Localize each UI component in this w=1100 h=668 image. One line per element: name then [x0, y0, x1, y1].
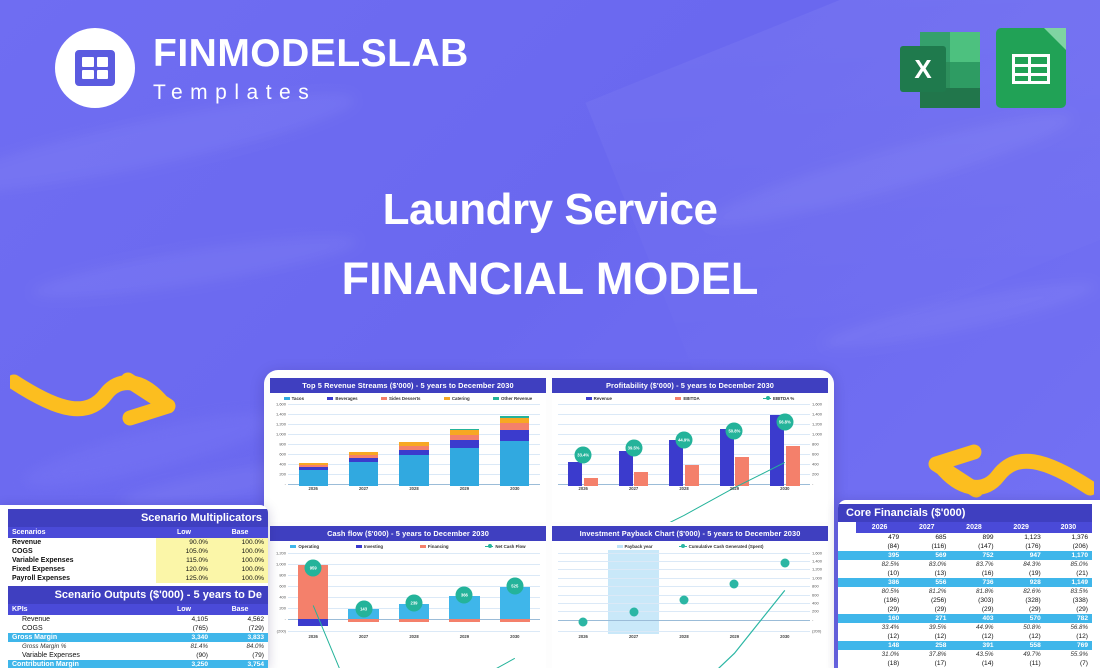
brand-subtitle: Templates [153, 82, 469, 103]
table-row[interactable]: COGS(765)(729) [8, 624, 268, 633]
chart-legend: Operating Investing Financing Net Cash F… [270, 541, 546, 550]
data-label: 50.8% [726, 422, 743, 439]
x-axis-labels: 20262027 20282029 2030 [558, 634, 810, 646]
excel-icon: X [900, 28, 980, 108]
table-row[interactable]: Fixed Expenses120.0%100.0% [8, 565, 268, 574]
core-financials-title: Core Financials ($'000) [838, 504, 1092, 522]
x-axis-labels: 20262027 20282029 2030 [558, 486, 810, 498]
data-label: 44.9% [676, 431, 693, 448]
y-axis-labels: 1,600 1,400 1,200 1,000 800 600 400 200 … [811, 402, 826, 486]
chart-plot-area: 1,600 1,400 1,200 1,000 800 600 400 200 … [272, 402, 544, 498]
table-row[interactable]: (10)(13)(16)(19)(21) [838, 569, 1092, 578]
chart-investment-payback[interactable]: Investment Payback Chart ($'000) - 5 yea… [552, 526, 828, 668]
legend-item: EBITDA % [763, 396, 794, 401]
chart-bars [288, 550, 540, 634]
chart-title: Top 5 Revenue Streams ($'000) - 5 years … [270, 378, 546, 393]
chart-title: Profitability ($'000) - 5 years to Decem… [552, 378, 828, 393]
cumulative-cash-line [558, 550, 810, 668]
chart-grid: 33.4% 39.5% 44.9% 50.8% 56.8% [558, 402, 810, 486]
scenario-panel[interactable]: Scenario Multiplicators Scenarios Low Ba… [0, 505, 268, 668]
legend-item: Revenue [586, 396, 612, 401]
curved-arrow-right-icon [10, 360, 210, 440]
data-point [730, 580, 739, 589]
table-row[interactable]: Gross Margin %81.4%84.0% [8, 642, 268, 651]
legend-item: Financing [420, 544, 449, 549]
table-row[interactable]: (18)(17)(14)(11)(7) [838, 659, 1092, 668]
table-row[interactable]: 82.5%83.0%83.7%84.3%85.0% [838, 560, 1092, 569]
data-label: 33.4% [575, 446, 592, 463]
chart-plot-area: 1,600 1,400 1,200 1,000 800 600 400 200 … [554, 550, 826, 646]
legend-item: Net Cash Flow [485, 544, 525, 549]
legend-item: Tacos [284, 396, 304, 401]
data-point [680, 596, 689, 605]
table-row[interactable]: Variable Expenses(90)(79) [8, 651, 268, 660]
table-row[interactable]: 3865567369281,149 [838, 578, 1092, 587]
logo-mark [55, 28, 135, 108]
chart-plot-area: 1,200 1,000 800 600 400 200 - (200) [272, 550, 544, 646]
col-year: 2029 [998, 522, 1045, 533]
chart-profitability[interactable]: Profitability ($'000) - 5 years to Decem… [552, 378, 828, 522]
chart-grid [288, 402, 540, 486]
data-point [780, 559, 789, 568]
table-header-row: 2026 2027 2028 2029 2030 [838, 522, 1092, 533]
data-label: 959 [305, 560, 322, 577]
table-header-row: Scenarios Low Base [8, 527, 268, 538]
chart-legend: Tacos Beverages Sides Desserts Catering … [270, 393, 546, 402]
legend-item: Investing [356, 544, 383, 549]
chart-title: Investment Payback Chart ($'000) - 5 yea… [552, 526, 828, 541]
table-row[interactable]: (84)(116)(147)(176)(206) [838, 542, 1092, 551]
table-header-row: KPIs Low Base [8, 604, 268, 615]
curved-arrow-left-icon [914, 430, 1094, 510]
data-point [579, 618, 588, 627]
payback-year-band [608, 550, 658, 634]
col-year: 2026 [856, 522, 903, 533]
chart-grid: 959 143 239 366 525 [288, 550, 540, 634]
chart-grid [558, 550, 810, 634]
brand-logo: FINMODELSLAB Templates [55, 28, 469, 108]
table-row[interactable]: Revenue90.0%100.0% [8, 538, 268, 547]
col-base: Base [212, 604, 268, 615]
table-row[interactable]: Payroll Expenses125.0%100.0% [8, 574, 268, 583]
format-badges: X [900, 28, 1066, 108]
grid-squares-icon [75, 50, 115, 86]
scenario-outputs-table[interactable]: KPIs Low Base Revenue4,1054,562 COGS(765… [8, 604, 268, 668]
legend-item: Catering [444, 396, 470, 401]
title-line-1: Laundry Service [0, 185, 1100, 235]
table-row[interactable]: 4796858991,1231,376 [838, 533, 1092, 542]
legend-item: EBITDA [675, 396, 699, 401]
table-row[interactable]: Variable Expenses115.0%100.0% [8, 556, 268, 565]
table-row[interactable]: 31.0%37.8%43.5%49.7%55.9% [838, 650, 1092, 659]
chart-title: Cash flow ($'000) - 5 years to December … [270, 526, 546, 541]
legend-item: Other Revenue [493, 396, 532, 401]
chart-cash-flow[interactable]: Cash flow ($'000) - 5 years to December … [270, 526, 546, 668]
scenario-outputs-title: Scenario Outputs ($'000) - 5 years to De [8, 586, 268, 604]
y-axis-labels: 1,600 1,400 1,200 1,000 800 600 400 200 … [811, 550, 826, 634]
col-base: Base [212, 527, 268, 538]
data-label: 239 [406, 594, 423, 611]
table-row[interactable]: Gross Margin3,3403,833 [8, 633, 268, 642]
data-label: 366 [456, 587, 473, 604]
data-label: 143 [355, 600, 372, 617]
legend-item: Beverages [327, 396, 357, 401]
col-low: Low [156, 527, 212, 538]
y-axis-labels: 1,600 1,400 1,200 1,000 800 600 400 200 … [272, 402, 287, 486]
table-row[interactable]: (29)(29)(29)(29)(29) [838, 605, 1092, 614]
data-label: 525 [506, 578, 523, 595]
table-row[interactable]: Contribution Margin3,2503,754 [8, 660, 268, 668]
data-label: 56.8% [776, 414, 793, 431]
core-financials-panel[interactable]: Core Financials ($'000) 2026 2027 2028 2… [838, 500, 1100, 668]
chart-revenue-streams[interactable]: Top 5 Revenue Streams ($'000) - 5 years … [270, 378, 546, 522]
title-line-2: FINANCIAL MODEL [0, 253, 1100, 305]
col-low: Low [156, 604, 212, 615]
scenario-multiplicators-table[interactable]: Scenarios Low Base Revenue90.0%100.0% CO… [8, 527, 268, 583]
legend-item: Payback year [617, 544, 653, 549]
chart-legend: Payback year Cumulative Cash Generated (… [552, 541, 828, 550]
table-row[interactable]: Revenue4,1054,562 [8, 615, 268, 624]
legend-item: Sides Desserts [381, 396, 421, 401]
col-year: 2030 [1045, 522, 1092, 533]
chart-bars [288, 402, 540, 486]
col-year: 2027 [903, 522, 950, 533]
dashboard-preview[interactable]: Top 5 Revenue Streams ($'000) - 5 years … [264, 370, 834, 668]
col-year: 2028 [950, 522, 997, 533]
chart-legend: Revenue EBITDA EBITDA % [552, 393, 828, 402]
brand-text: FINMODELSLAB Templates [153, 34, 469, 103]
table-row[interactable]: 33.4%39.5%44.9%50.8%56.8% [838, 623, 1092, 632]
scenario-multiplicators-title: Scenario Multiplicators [8, 509, 268, 527]
y-axis-labels: 1,200 1,000 800 600 400 200 - (200) [272, 550, 287, 634]
table-row[interactable]: COGS105.0%100.0% [8, 547, 268, 556]
col-scenarios: Scenarios [8, 527, 156, 538]
table-row[interactable]: 160271403570782 [838, 614, 1092, 623]
col-kpis: KPIs [8, 604, 156, 615]
core-financials-table[interactable]: 2026 2027 2028 2029 2030 4796858991,1231… [838, 522, 1092, 668]
table-row[interactable]: (12)(12)(12)(12)(12) [838, 632, 1092, 641]
data-point [629, 608, 638, 617]
table-row[interactable]: 80.5%81.2%81.8%82.6%83.5% [838, 587, 1092, 596]
chart-plot-area: 1,600 1,400 1,200 1,000 800 600 400 200 … [554, 402, 826, 498]
brand-name: FINMODELSLAB [153, 34, 469, 73]
x-axis-labels: 20262027 20282029 2030 [288, 486, 540, 498]
x-axis-labels: 20262027 20282029 2030 [288, 634, 540, 646]
table-row[interactable]: (196)(256)(303)(328)(338) [838, 596, 1092, 605]
page-title: Laundry Service FINANCIAL MODEL [0, 185, 1100, 305]
data-label: 39.5% [625, 440, 642, 457]
legend-item: Operating [290, 544, 319, 549]
legend-item: Cumulative Cash Generated (Spent) [679, 544, 764, 549]
table-row[interactable]: 148258391558769 [838, 641, 1092, 650]
google-sheets-icon [996, 28, 1066, 108]
table-row[interactable]: 3955697529471,170 [838, 551, 1092, 560]
